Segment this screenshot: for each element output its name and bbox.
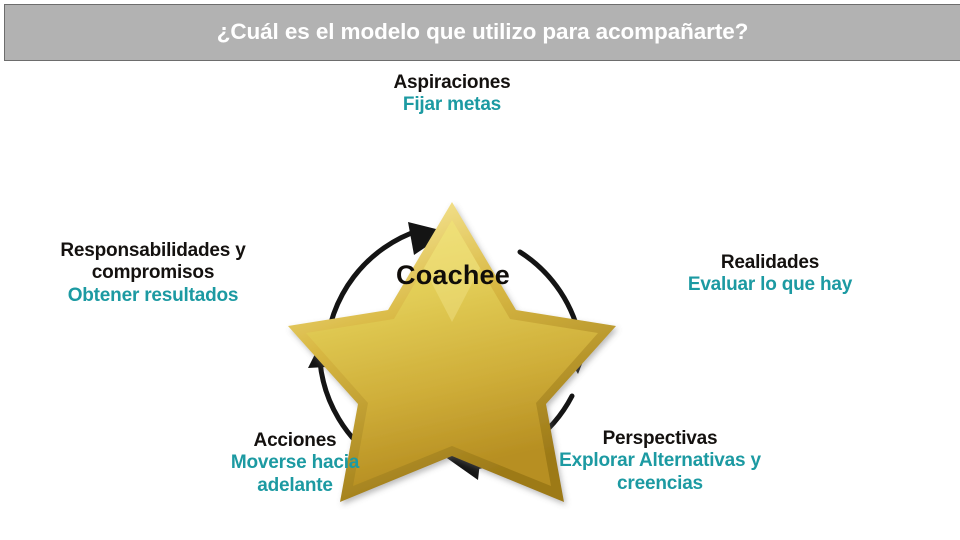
node-responsabilidades-subtitle: Obtener resultados (8, 285, 298, 307)
node-realidades-subtitle: Evaluar lo que hay (620, 274, 920, 296)
node-acciones: Acciones Moverse hacia adelante (160, 430, 430, 497)
node-acciones-subtitle-line2: adelante (160, 475, 430, 497)
node-aspiraciones: Aspiraciones Fijar metas (292, 72, 612, 117)
node-aspiraciones-subtitle: Fijar metas (292, 94, 612, 116)
node-responsabilidades-title-line2: compromisos (8, 262, 298, 284)
node-perspectivas-subtitle-line2: creencias (490, 473, 830, 495)
node-perspectivas: Perspectivas Explorar Alternativas y cre… (490, 428, 830, 495)
node-acciones-title: Acciones (160, 430, 430, 452)
header-banner: ¿Cuál es el modelo que utilizo para acom… (4, 4, 960, 61)
node-aspiraciones-title: Aspiraciones (292, 72, 612, 94)
node-realidades: Realidades Evaluar lo que hay (620, 252, 920, 297)
coaching-model-diagram: Coachee Aspiraciones Fijar metas Realida… (0, 62, 960, 540)
node-perspectivas-subtitle-line1: Explorar Alternativas y (490, 450, 830, 472)
node-realidades-title: Realidades (620, 252, 920, 274)
node-perspectivas-title: Perspectivas (490, 428, 830, 450)
node-acciones-subtitle-line1: Moverse hacia (160, 452, 430, 474)
page-title: ¿Cuál es el modelo que utilizo para acom… (217, 21, 749, 44)
node-responsabilidades: Responsabilidades y compromisos Obtener … (8, 240, 298, 307)
node-responsabilidades-title-line1: Responsabilidades y (8, 240, 298, 262)
